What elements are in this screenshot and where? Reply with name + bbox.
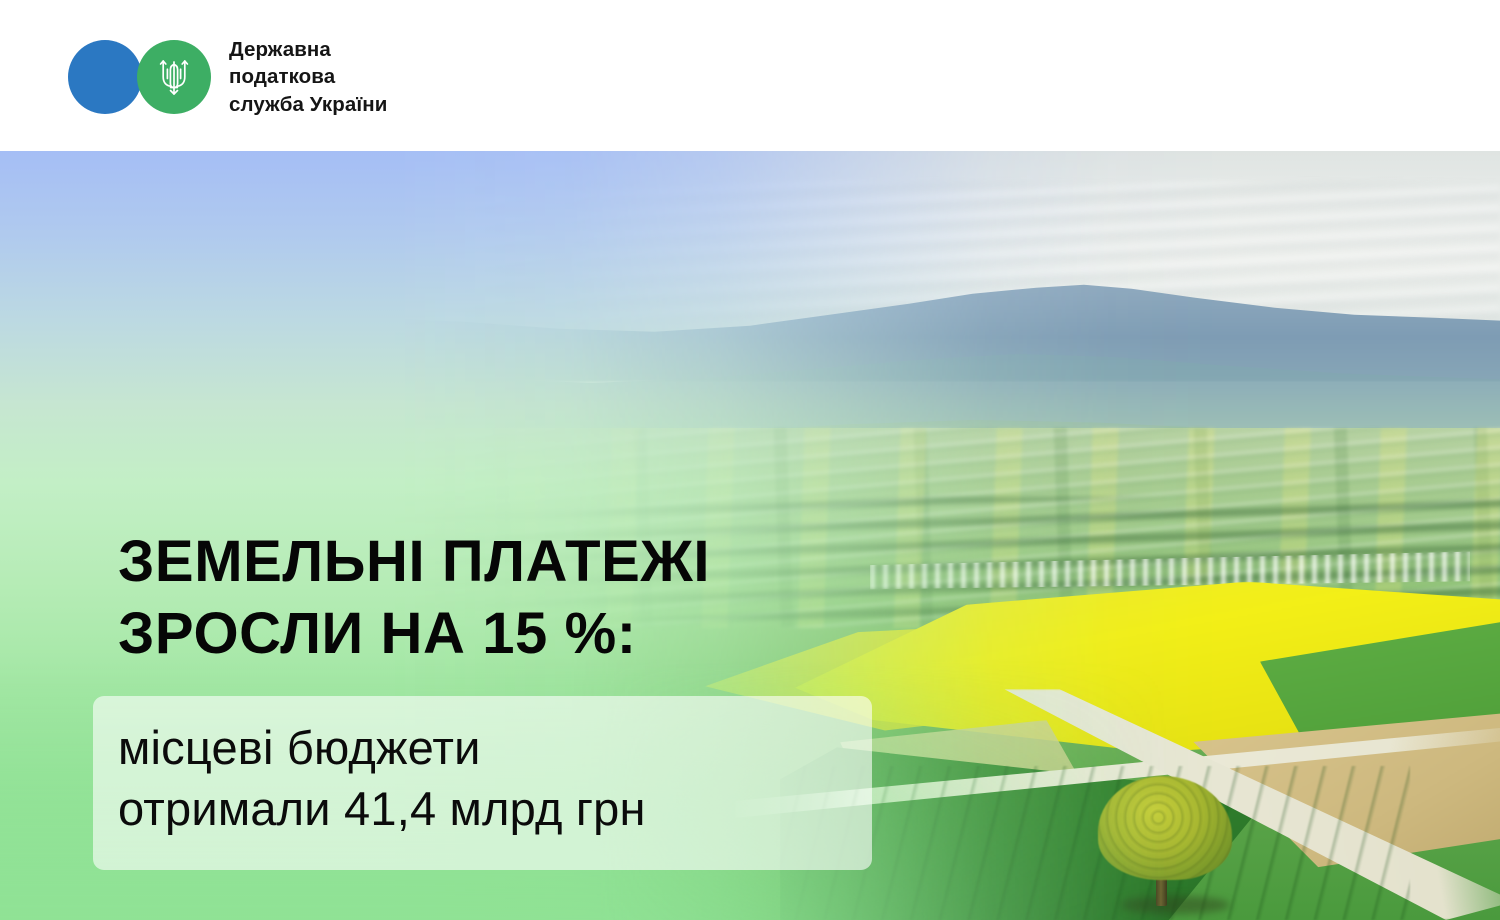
poster: Державна податкова служба України: [0, 0, 1500, 920]
header-bar: Державна податкова служба України: [0, 0, 1500, 151]
organization-name: Державна податкова служба України: [229, 36, 387, 118]
organization-logo: Державна податкова служба України: [68, 36, 387, 118]
page-title: ЗЕМЕЛЬНІ ПЛАТЕЖІ ЗРОСЛИ НА 15 %:: [118, 526, 908, 670]
hero-stage: ЗЕМЕЛЬНІ ПЛАТЕЖІ ЗРОСЛИ НА 15 %: місцеві…: [0, 151, 1500, 920]
blue-circle-icon: [68, 40, 142, 114]
logo-marks: [68, 40, 211, 114]
ukraine-trident-emblem-icon: [137, 40, 211, 114]
subtitle-text: місцеві бюджети отримали 41,4 млрд грн: [118, 717, 918, 839]
